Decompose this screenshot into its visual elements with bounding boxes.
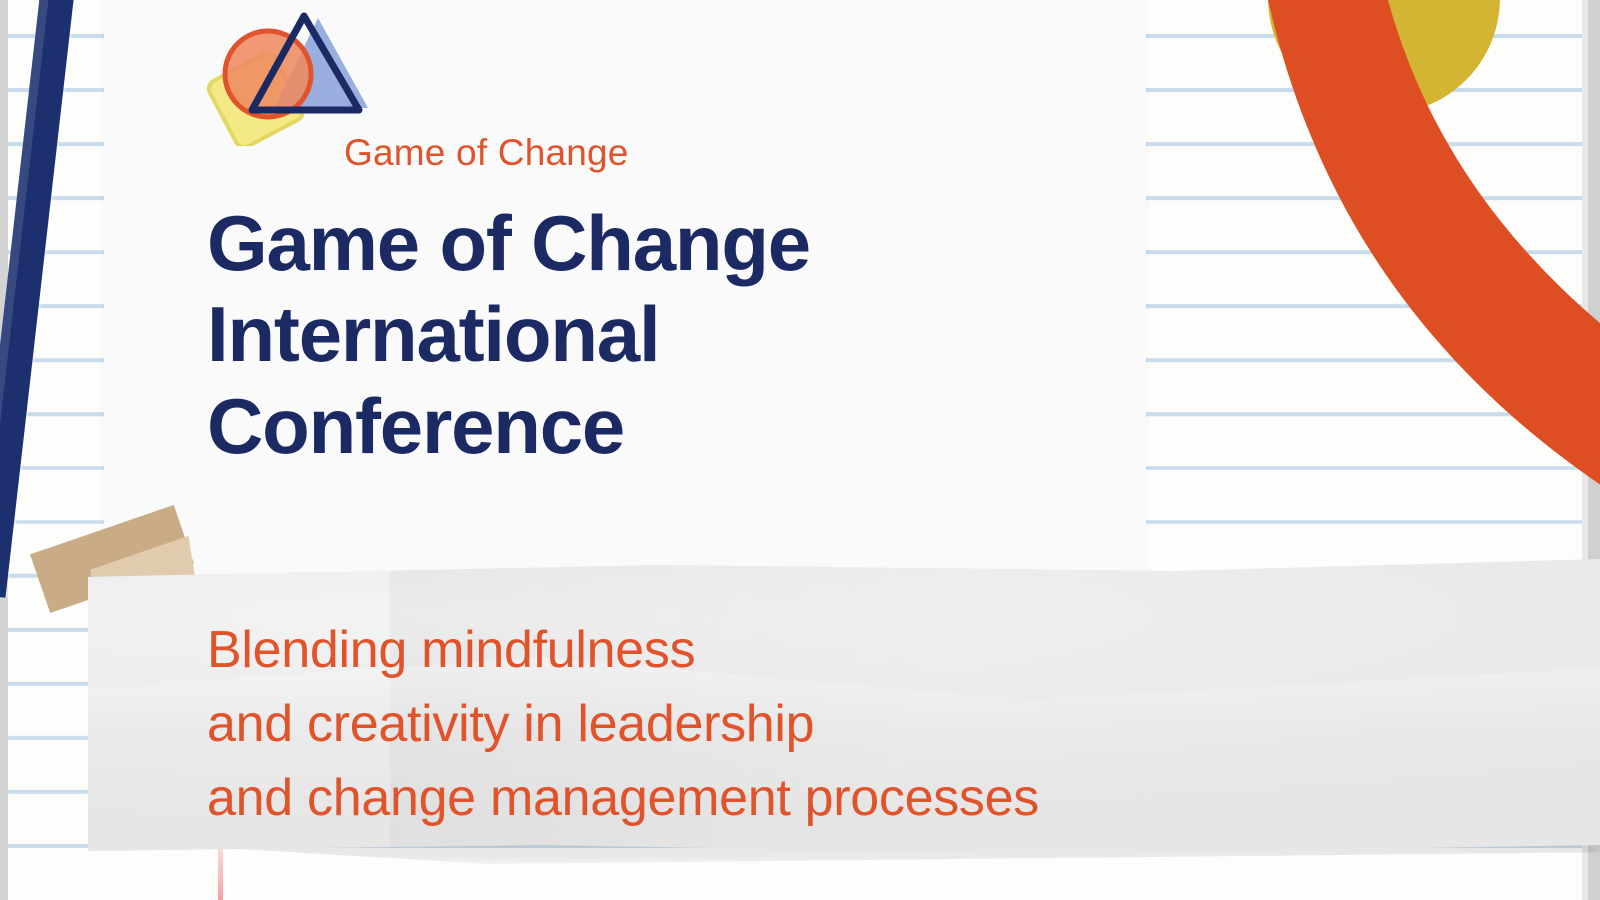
- page-title-line-1: Game of Change: [207, 198, 1107, 289]
- page-title-line-3: Conference: [207, 381, 1107, 472]
- page-subtitle-line-3: and change management processes: [207, 762, 1527, 836]
- page-subtitle-line-2: and creativity in leadership: [207, 688, 1527, 762]
- page-subtitle-line-1: Blending mindfulness: [207, 614, 1527, 688]
- page-title-line-2: International: [207, 289, 1107, 380]
- page-subtitle: Blending mindfulness and creativity in l…: [207, 614, 1527, 835]
- geometric-shapes-logo-icon: [196, 6, 396, 146]
- poster-canvas: Game of Change Game of Change Internatio…: [0, 0, 1600, 900]
- brand-eyebrow: Game of Change: [344, 132, 629, 174]
- orange-swoosh-icon: [1150, 0, 1600, 610]
- page-title: Game of Change International Conference: [207, 198, 1107, 472]
